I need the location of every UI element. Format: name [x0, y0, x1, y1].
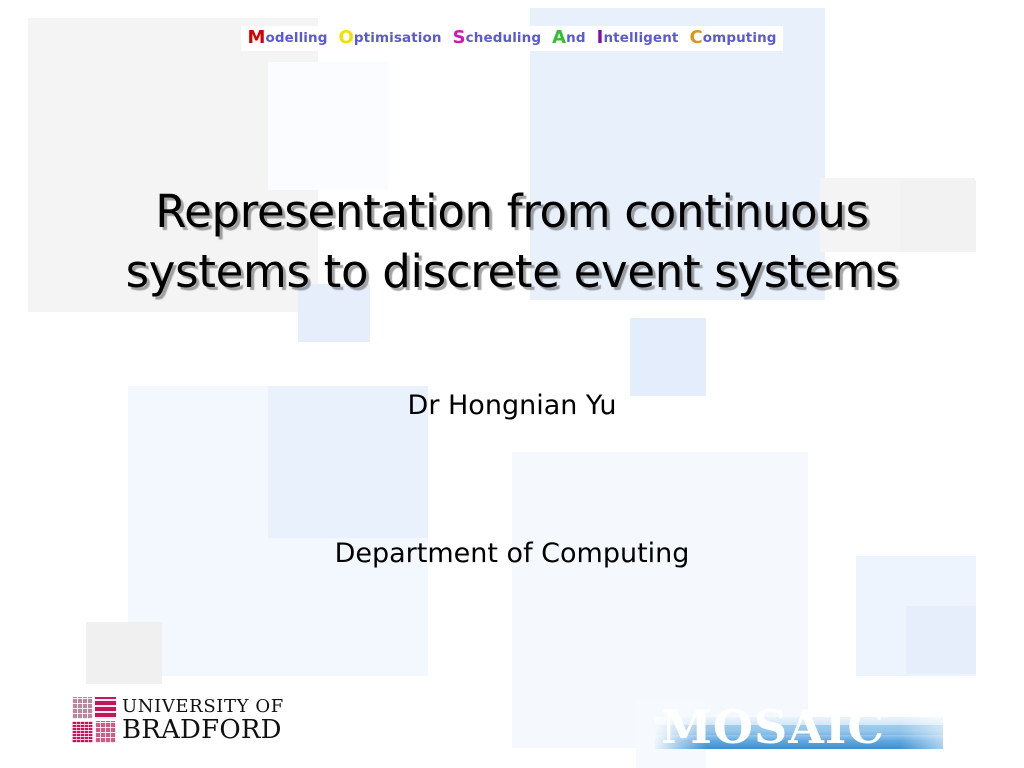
bradford-crest-icon — [72, 697, 116, 743]
title-line-2: systems to discrete event systems — [62, 242, 962, 301]
background-tile — [268, 62, 388, 190]
page-title: Representation from continuous systems t… — [62, 182, 962, 301]
acronym-word-remainder: ntelligent — [603, 30, 678, 46]
title-line-1: Representation from continuous — [62, 182, 962, 241]
background-tile — [128, 386, 428, 676]
bradford-line-1: UNIVERSITY OF — [122, 698, 284, 716]
university-of-bradford-logo: UNIVERSITY OF BRADFORD — [72, 697, 284, 743]
acronym-capital-letter: A — [552, 27, 566, 48]
crest-tile-top-left — [72, 697, 93, 719]
acronym-capital-letter: M — [247, 27, 265, 48]
bradford-wordmark: UNIVERSITY OF BRADFORD — [122, 698, 284, 743]
crest-tile-bottom-right — [95, 721, 116, 743]
acronym-header-band: ModellingOptimisationSchedulingAndIntell… — [241, 26, 782, 51]
background-mosaic — [0, 0, 1024, 768]
crest-tile-top-right — [95, 697, 116, 719]
mosaic-logo: MOSAIC — [655, 695, 955, 753]
presenter-name: Dr Hongnian Yu — [0, 390, 1024, 421]
mosaic-logo-text: MOSAIC — [661, 700, 885, 753]
background-tile — [856, 556, 976, 676]
acronym-word-remainder: odelling — [265, 30, 327, 46]
acronym-capital-letter: C — [689, 27, 702, 48]
background-tile — [630, 318, 706, 396]
background-tile — [86, 622, 162, 684]
department-name: Department of Computing — [0, 538, 1024, 569]
acronym-capital-letter: O — [339, 27, 354, 48]
acronym-capital-letter: S — [453, 27, 466, 48]
acronym-word-m: Modelling — [247, 30, 327, 46]
acronym-word-remainder: omputing — [703, 30, 777, 46]
acronym-word-remainder: nd — [566, 30, 585, 46]
acronym-word-remainder: cheduling — [466, 30, 541, 46]
crest-tile-bottom-left — [72, 721, 93, 743]
acronym-word-a: And — [552, 30, 586, 46]
acronym-word-s: Scheduling — [453, 30, 542, 46]
mosaic-logo-graphic: MOSAIC — [655, 695, 955, 753]
acronym-header: ModellingOptimisationSchedulingAndIntell… — [0, 26, 1024, 51]
presentation-slide: ModellingOptimisationSchedulingAndIntell… — [0, 0, 1024, 768]
acronym-word-i: Intelligent — [597, 30, 679, 46]
acronym-word-o: Optimisation — [339, 30, 442, 46]
acronym-word-remainder: ptimisation — [354, 30, 442, 46]
bradford-line-2: BRADFORD — [122, 717, 284, 743]
background-tile — [906, 606, 976, 674]
acronym-word-c: Computing — [689, 30, 776, 46]
